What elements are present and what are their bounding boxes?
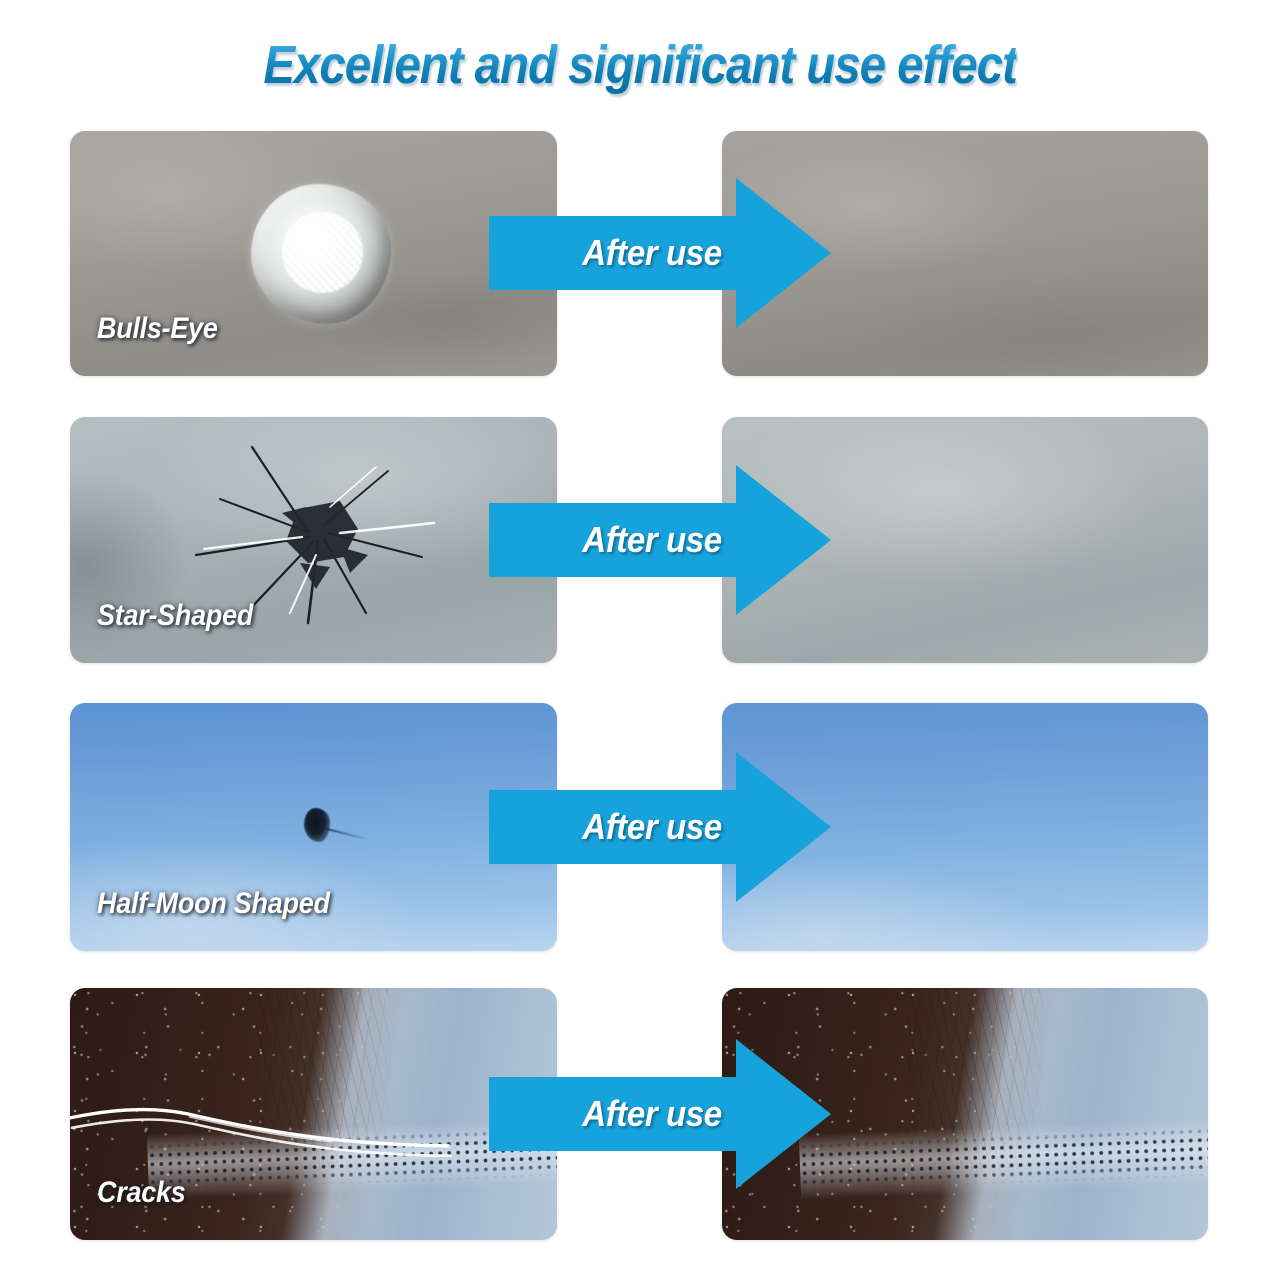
page-title: Excellent and significant use effect	[0, 34, 1280, 96]
arrow-right-icon	[489, 465, 831, 615]
damage-half-moon-chip-icon	[304, 808, 330, 842]
after-use-arrow-half-moon-shaped: After use	[489, 752, 831, 902]
damage-bulls-eye-chip-icon	[251, 184, 391, 324]
before-panel-cracks[interactable]: Cracks	[70, 988, 557, 1240]
comparison-row-half-moon-shaped: Half-Moon Shaped After use	[0, 703, 1280, 951]
damage-label-star-shaped: Star-Shaped	[97, 599, 253, 633]
comparison-row-bulls-eye: Bulls-Eye After use	[0, 131, 1280, 376]
before-panel-star-shaped[interactable]: Star-Shaped	[70, 417, 557, 663]
before-panel-half-moon-shaped[interactable]: Half-Moon Shaped	[70, 703, 557, 951]
comparison-row-cracks: Cracks After use	[0, 988, 1280, 1240]
after-use-arrow-cracks: After use	[489, 1039, 831, 1189]
after-use-arrow-bulls-eye: After use	[489, 178, 831, 328]
damage-label-cracks: Cracks	[97, 1176, 185, 1210]
after-use-arrow-star-shaped: After use	[489, 465, 831, 615]
damage-crack-lines-icon	[70, 1084, 518, 1170]
damage-label-bulls-eye: Bulls-Eye	[97, 312, 218, 346]
page-title-text: Excellent and significant use effect	[263, 34, 1016, 96]
arrow-right-icon	[489, 1039, 831, 1189]
comparison-row-star-shaped: Star-Shaped After use	[0, 417, 1280, 663]
damage-label-half-moon-shaped: Half-Moon Shaped	[97, 887, 330, 921]
before-panel-bulls-eye[interactable]: Bulls-Eye	[70, 131, 557, 376]
arrow-right-icon	[489, 178, 831, 328]
arrow-right-icon	[489, 752, 831, 902]
